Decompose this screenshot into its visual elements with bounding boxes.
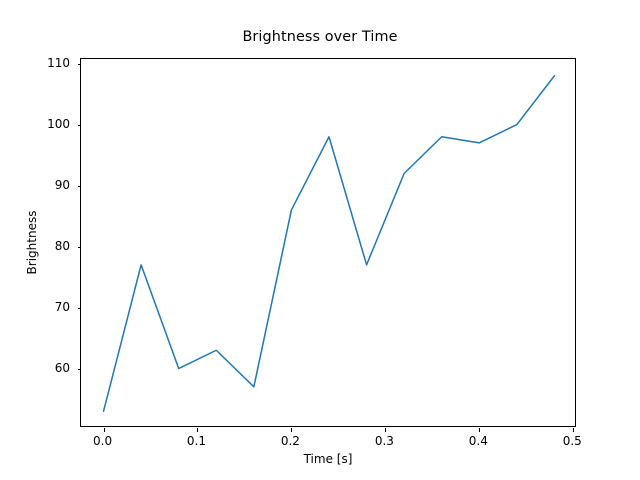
x-tick-label: 0.2: [281, 434, 300, 448]
x-tick-mark: [573, 428, 574, 432]
x-axis-label: Time [s]: [80, 452, 576, 466]
data-series-line: [104, 76, 555, 411]
x-tick-mark: [197, 428, 198, 432]
y-tick-mark: [78, 186, 82, 187]
y-tick-label: 110: [30, 56, 70, 70]
y-tick-mark: [78, 247, 82, 248]
x-tick-label: 0.5: [563, 434, 582, 448]
plot-axes: [80, 58, 576, 427]
y-tick-label: 100: [30, 117, 70, 131]
line-plot-svg: [81, 59, 577, 428]
x-tick-label: 0.1: [187, 434, 206, 448]
y-tick-mark: [78, 308, 82, 309]
y-tick-label: 70: [30, 300, 70, 314]
y-tick-mark: [78, 64, 82, 65]
x-tick-mark: [291, 428, 292, 432]
figure-canvas: Brightness over Time Brightness Time [s]…: [0, 0, 640, 480]
y-tick-label: 90: [30, 178, 70, 192]
y-tick-label: 60: [30, 361, 70, 375]
x-tick-label: 0.0: [93, 434, 112, 448]
y-tick-mark: [78, 125, 82, 126]
x-tick-mark: [104, 428, 105, 432]
y-tick-label: 80: [30, 239, 70, 253]
x-tick-mark: [479, 428, 480, 432]
chart-title: Brightness over Time: [0, 29, 640, 45]
x-tick-label: 0.3: [375, 434, 394, 448]
x-tick-mark: [385, 428, 386, 432]
x-tick-label: 0.4: [469, 434, 488, 448]
y-tick-mark: [78, 369, 82, 370]
